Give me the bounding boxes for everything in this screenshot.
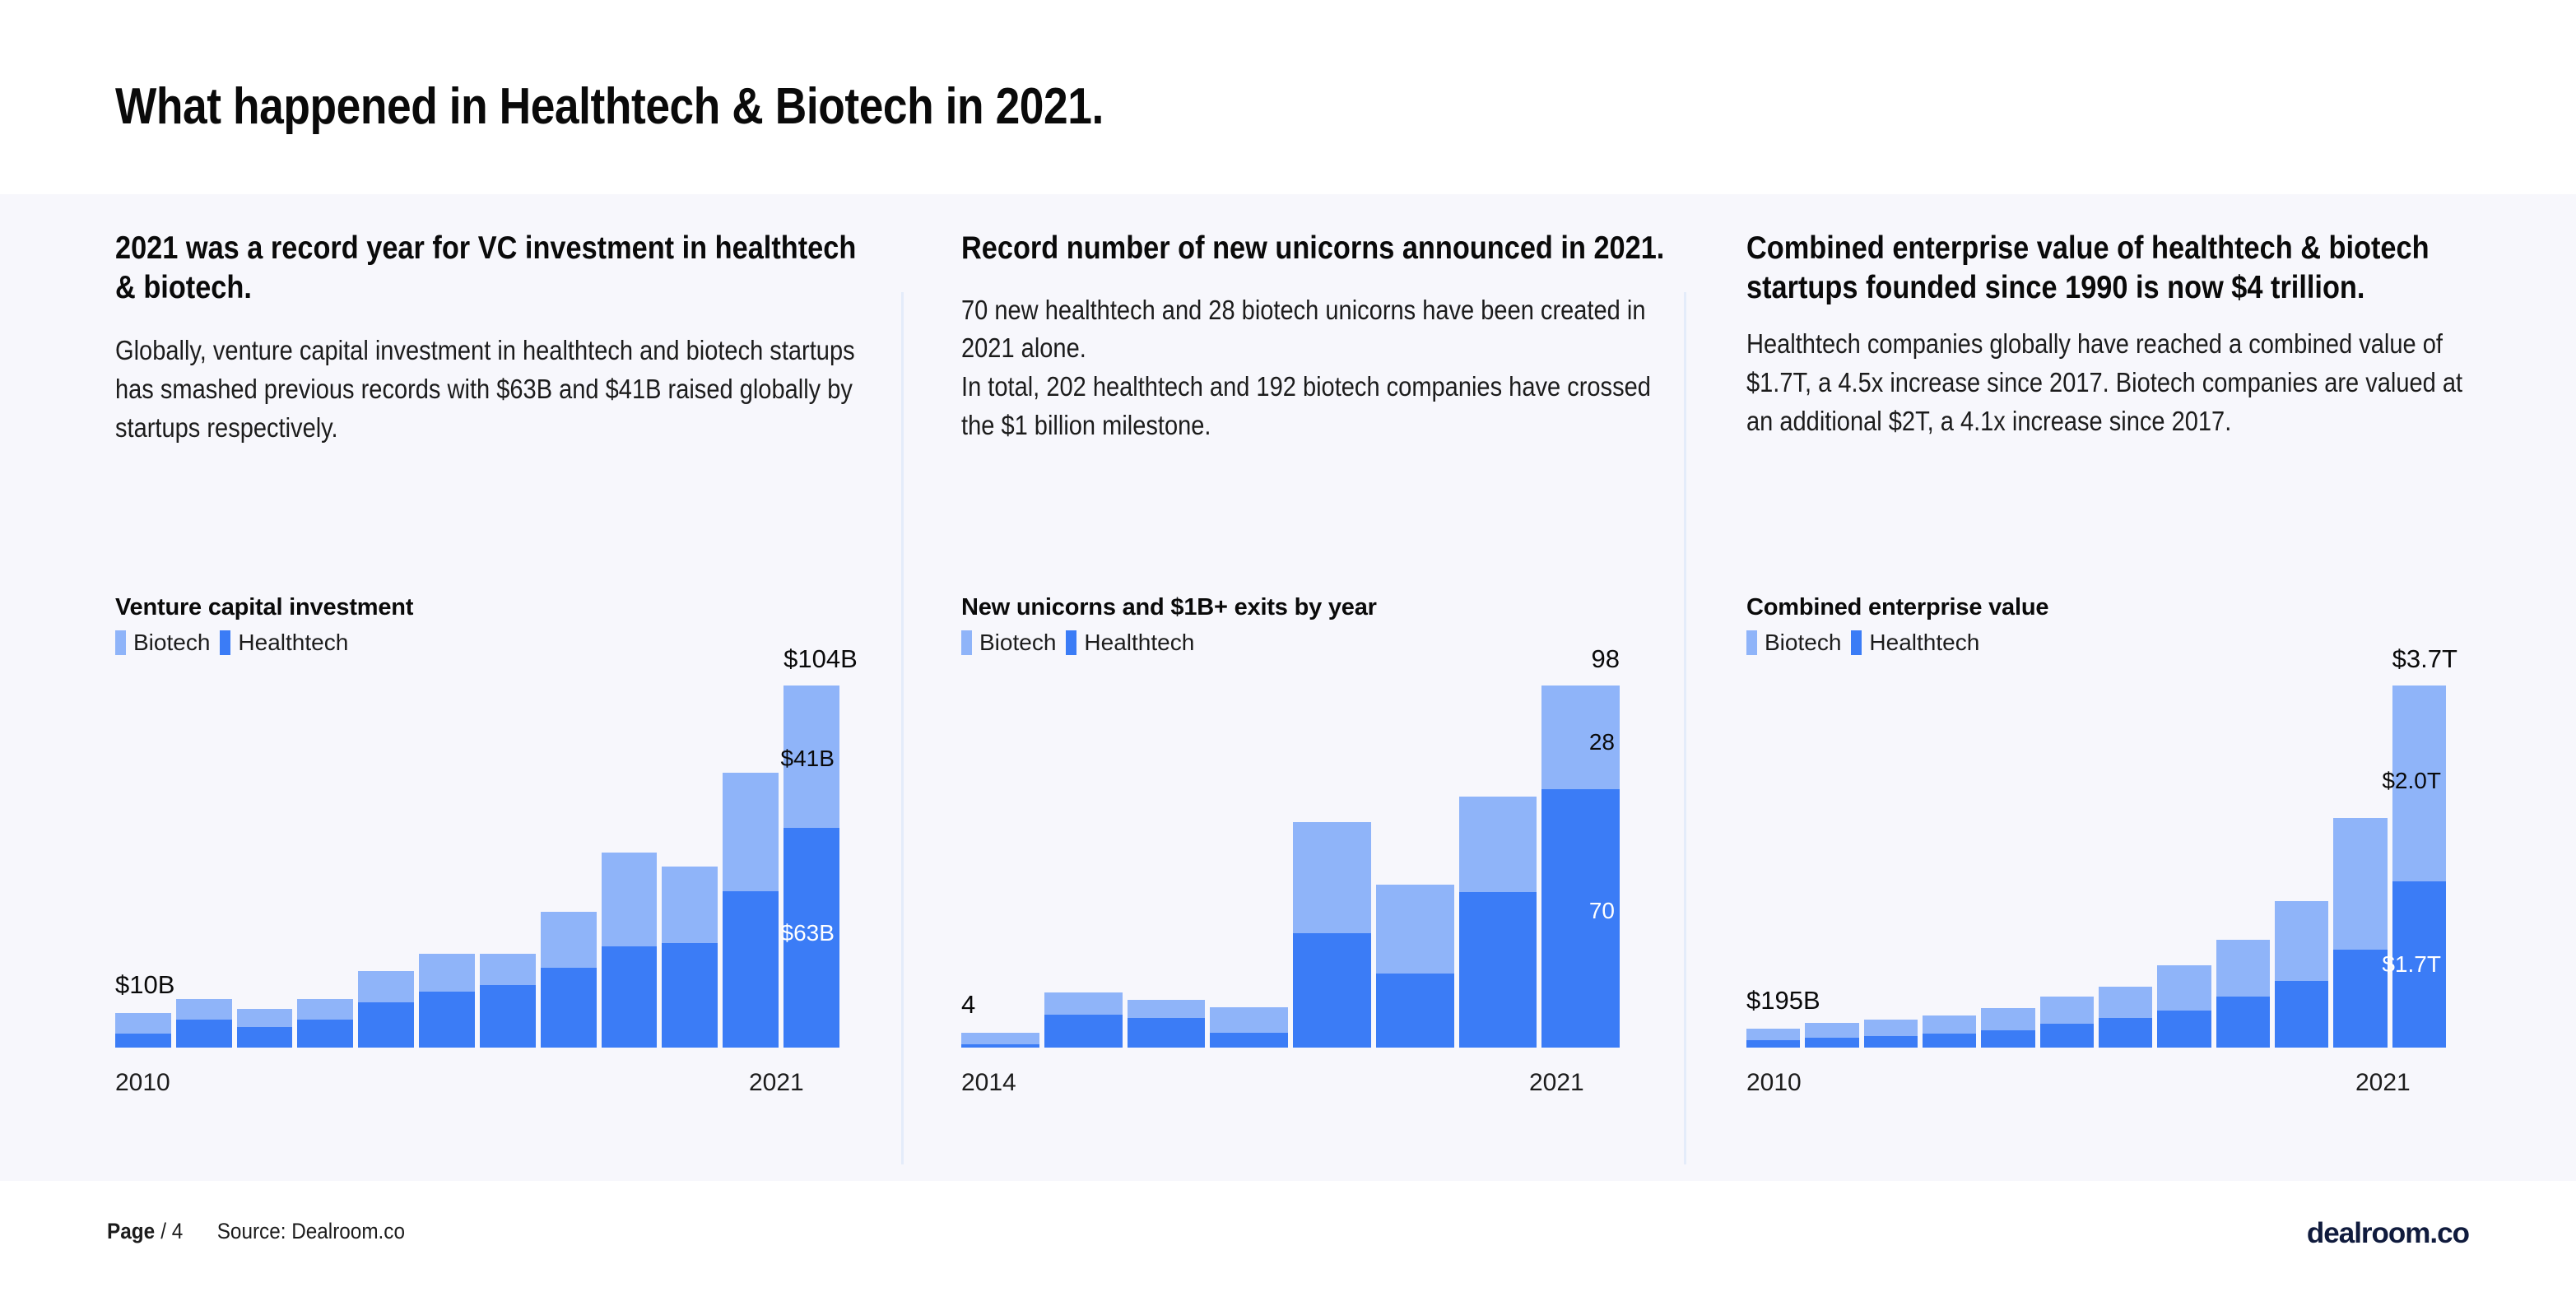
legend-label-healthtech: Healthtech [238, 630, 348, 656]
legend-entry-biotech: Biotech [961, 630, 1056, 656]
bar-2020[interactable] [1459, 797, 1537, 1048]
column-1-heading: 2021 was a record year for VC investment… [115, 194, 883, 307]
chart-3-axis-start: 2010 [1746, 1069, 1802, 1097]
chart-2-block: New unicorns and $1B+ exits by year Biot… [961, 594, 1669, 1105]
chart-1-title: Venture capital investment [115, 594, 881, 621]
segment-biotech [1044, 992, 1123, 1015]
last-bar-total-label: $3.7T [2392, 644, 2446, 674]
column-3-body: Healthtech companies globally have reach… [1746, 325, 2490, 441]
column-1-body: Globally, venture capital investment in … [115, 332, 883, 448]
healthtech-swatch-icon [220, 630, 230, 655]
segment-healthtech [602, 946, 658, 1048]
dealroom-logo: dealroom.co [2307, 1217, 2469, 1250]
bar-2018[interactable] [1293, 822, 1371, 1048]
chart-3-axis-end: 2021 [2355, 1069, 2411, 1097]
bar-2015[interactable] [2040, 997, 2094, 1048]
bar-2017[interactable] [1210, 1007, 1288, 1048]
bar-2020[interactable] [2333, 818, 2387, 1048]
chart-3-plot: $2.0T$1.7T$195B$3.7T [1746, 686, 2487, 1048]
segment-biotech [115, 1013, 171, 1034]
bar-2013[interactable] [1923, 1015, 1976, 1048]
bar-label-healthtech: $1.7T [2382, 951, 2441, 978]
segment-healthtech [2275, 981, 2328, 1048]
column-2-body-line-2: In total, 202 healthtech and 192 biotech… [961, 368, 1672, 445]
segment-healthtech [1210, 1033, 1288, 1048]
page-header: What happened in Healthtech & Biotech in… [0, 0, 2576, 194]
segment-healthtech [1923, 1034, 1976, 1048]
chart-3-block: Combined enterprise value Biotech Health… [1746, 594, 2487, 1105]
bar-label-healthtech: $63B [781, 920, 835, 946]
chart-1-legend: Biotech Healthtech [115, 630, 881, 656]
bar-2012[interactable] [237, 1009, 293, 1048]
chart-2-title: New unicorns and $1B+ exits by year [961, 594, 1669, 621]
segment-healthtech [662, 943, 718, 1048]
segment-biotech [358, 971, 414, 1002]
legend-label-biotech: Biotech [979, 630, 1056, 656]
biotech-swatch-icon [115, 630, 126, 655]
segment-biotech [2333, 818, 2387, 950]
page-count: / 4 [160, 1219, 183, 1244]
page-footer: Page / 4 Source: Dealroom.co dealroom.co [0, 1181, 2576, 1292]
bar-label-biotech: $2.0T [2382, 768, 2441, 794]
segment-biotech [662, 867, 718, 943]
bar-2010[interactable] [1746, 1029, 1800, 1048]
chart-3-axis: 2010 2021 [1746, 1069, 2487, 1105]
bar-group: 2870 [961, 686, 1620, 1048]
segment-healthtech [1128, 1018, 1206, 1048]
segment-biotech [419, 954, 475, 992]
bar-2021[interactable]: 2870 [1541, 686, 1620, 1048]
segment-biotech [1128, 1000, 1206, 1018]
bar-label-biotech: $41B [781, 746, 835, 772]
bar-2011[interactable] [176, 999, 232, 1048]
healthtech-swatch-icon [1066, 630, 1076, 655]
bar-label-biotech: 28 [1589, 729, 1615, 755]
legend-entry-biotech: Biotech [115, 630, 210, 656]
bar-2014[interactable] [961, 1033, 1039, 1048]
source-label: Source: Dealroom.co [217, 1219, 405, 1244]
legend-entry-healthtech: Healthtech [1066, 630, 1194, 656]
segment-healthtech [723, 891, 779, 1048]
bar-2019[interactable] [662, 867, 718, 1048]
bar-2015[interactable] [419, 954, 475, 1048]
chart-1-plot: $41B$63B$10B$104B [115, 686, 881, 1048]
bar-2013[interactable] [297, 999, 353, 1048]
bar-label-healthtech: 70 [1589, 898, 1615, 924]
last-bar-total-label: 98 [1541, 644, 1620, 674]
bar-2014[interactable] [358, 971, 414, 1048]
segment-biotech [2040, 997, 2094, 1024]
segment-healthtech [297, 1020, 353, 1048]
segment-healthtech [480, 985, 536, 1048]
infographic-page: What happened in Healthtech & Biotech in… [0, 0, 2576, 1292]
bar-2012[interactable] [1864, 1020, 1918, 1048]
bar-2016[interactable] [480, 954, 536, 1048]
footer-left: Page / 4 Source: Dealroom.co [107, 1219, 405, 1244]
bar-2010[interactable] [115, 1013, 171, 1048]
segment-biotech [176, 999, 232, 1020]
segment-biotech [1376, 885, 1454, 974]
segment-biotech [1864, 1020, 1918, 1036]
segment-biotech [541, 912, 597, 968]
bar-group: $41B$63B [115, 686, 839, 1048]
bar-2018[interactable] [2216, 940, 2270, 1048]
page-label: Page [107, 1219, 155, 1244]
bar-2018[interactable] [602, 853, 658, 1048]
legend-label-healthtech: Healthtech [1084, 630, 1194, 656]
segment-healthtech [1746, 1040, 1800, 1048]
bar-2020[interactable] [723, 773, 779, 1048]
chart-2-plot: 2870498 [961, 686, 1669, 1048]
bar-2014[interactable] [1981, 1008, 2034, 1048]
segment-healthtech [1293, 933, 1371, 1048]
segment-biotech [1805, 1023, 1858, 1038]
segment-healthtech [176, 1020, 232, 1048]
legend-entry-healthtech: Healthtech [1851, 630, 1979, 656]
segment-biotech [1981, 1008, 2034, 1029]
column-3-heading: Combined enterprise value of healthtech … [1746, 194, 2490, 307]
segment-healthtech [115, 1034, 171, 1048]
segment-biotech [1923, 1015, 1976, 1034]
biotech-swatch-icon [1746, 630, 1757, 655]
healthtech-swatch-icon [1851, 630, 1862, 655]
legend-entry-healthtech: Healthtech [220, 630, 348, 656]
segment-biotech [2275, 901, 2328, 982]
segment-biotech [2216, 940, 2270, 997]
segment-healthtech [1459, 892, 1537, 1048]
page-number: Page / 4 [107, 1219, 183, 1244]
segment-biotech [1210, 1007, 1288, 1033]
segment-healthtech [961, 1044, 1039, 1048]
segment-healthtech [419, 992, 475, 1048]
legend-label-biotech: Biotech [1765, 630, 1841, 656]
chart-1-axis-end: 2021 [749, 1069, 804, 1097]
legend-label-biotech: Biotech [133, 630, 210, 656]
segment-biotech [480, 954, 536, 985]
segment-biotech [2099, 987, 2152, 1018]
bar-2016[interactable] [2099, 987, 2152, 1048]
chart-2-axis-end: 2021 [1529, 1069, 1584, 1097]
segment-healthtech [237, 1027, 293, 1048]
chart-3-legend: Biotech Healthtech [1746, 630, 2487, 656]
bar-2017[interactable] [2157, 965, 2211, 1048]
chart-1-axis: 2010 2021 [115, 1069, 881, 1105]
page-title: What happened in Healthtech & Biotech in… [115, 77, 1104, 136]
segment-biotech [237, 1009, 293, 1026]
segment-healthtech [541, 968, 597, 1048]
segment-biotech [602, 853, 658, 946]
segment-healthtech [2099, 1018, 2152, 1048]
bar-2016[interactable] [1128, 1000, 1206, 1048]
first-bar-total-label: 4 [961, 990, 975, 1020]
first-bar-total-label: $195B [1746, 986, 1820, 1015]
bar-2011[interactable] [1805, 1023, 1858, 1048]
chart-2-axis-start: 2014 [961, 1069, 1016, 1097]
bar-2019[interactable] [2275, 901, 2328, 1048]
segment-healthtech [1376, 974, 1454, 1048]
bar-group: $2.0T$1.7T [1746, 686, 2446, 1048]
column-2-heading: Record number of new unicorns announced … [961, 194, 1672, 268]
segment-healthtech [2216, 997, 2270, 1048]
segment-healthtech [358, 1002, 414, 1048]
segment-healthtech [1044, 1015, 1123, 1048]
legend-label-healthtech: Healthtech [1869, 630, 1979, 656]
segment-biotech [723, 773, 779, 891]
segment-healthtech [1805, 1038, 1858, 1048]
bar-2019[interactable] [1376, 885, 1454, 1048]
bar-2017[interactable] [541, 912, 597, 1048]
segment-biotech [961, 1033, 1039, 1043]
chart-2-axis: 2014 2021 [961, 1069, 1669, 1105]
biotech-swatch-icon [961, 630, 972, 655]
segment-healthtech [2157, 1011, 2211, 1048]
bar-2021[interactable]: $41B$63B [783, 686, 839, 1048]
column-enterprise-value: Combined enterprise value of healthtech … [1746, 194, 2487, 1181]
chart-1-axis-start: 2010 [115, 1069, 170, 1097]
chart-1-block: Venture capital investment Biotech Healt… [115, 594, 881, 1105]
bar-2021[interactable]: $2.0T$1.7T [2392, 686, 2446, 1048]
segment-healthtech [1981, 1030, 2034, 1048]
legend-entry-biotech: Biotech [1746, 630, 1841, 656]
column-new-unicorns: Record number of new unicorns announced … [961, 194, 1669, 1181]
first-bar-total-label: $10B [115, 970, 174, 1000]
segment-biotech [1746, 1029, 1800, 1040]
segment-healthtech [2040, 1024, 2094, 1048]
column-vc-investment: 2021 was a record year for VC investment… [115, 194, 881, 1181]
segment-biotech [2157, 965, 2211, 1011]
segment-biotech [1459, 797, 1537, 893]
column-2-body: 70 new healthtech and 28 biotech unicorn… [961, 291, 1672, 445]
column-divider-2 [1684, 292, 1686, 1164]
chart-3-title: Combined enterprise value [1746, 594, 2487, 621]
column-2-body-line-1: 70 new healthtech and 28 biotech unicorn… [961, 291, 1672, 369]
segment-biotech [1293, 822, 1371, 933]
segment-biotech [297, 999, 353, 1020]
last-bar-total-label: $104B [783, 644, 839, 674]
segment-healthtech [2333, 950, 2387, 1048]
segment-healthtech [1864, 1036, 1918, 1048]
column-divider-1 [901, 292, 904, 1164]
bar-2015[interactable] [1044, 992, 1123, 1048]
